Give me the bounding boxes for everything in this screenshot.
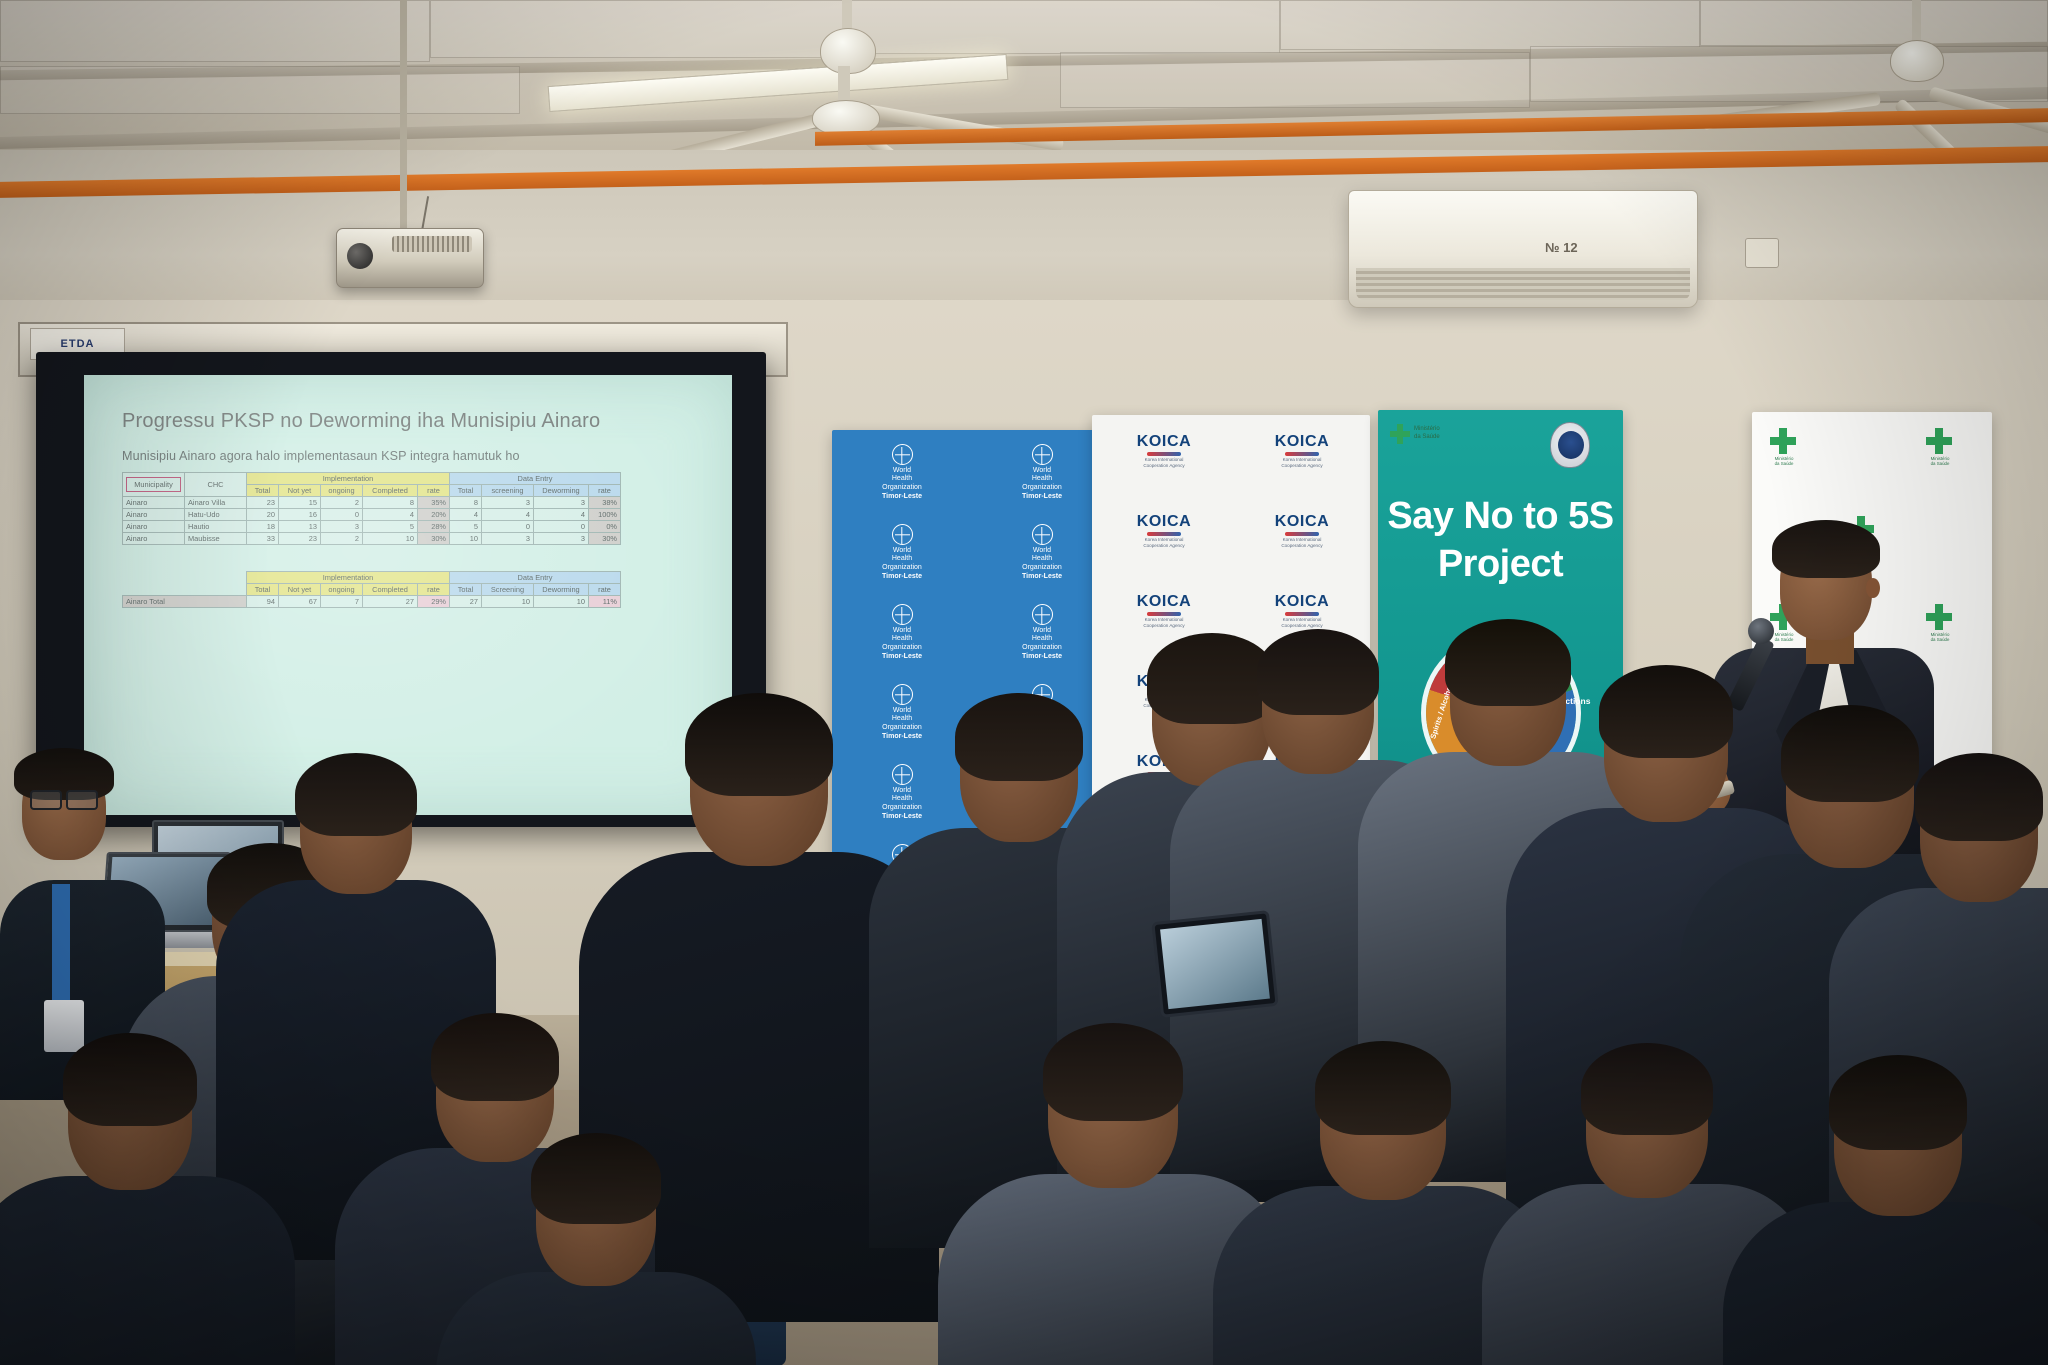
- cell-ongoing: 2: [321, 533, 363, 545]
- cell-impl-rate: 28%: [418, 521, 450, 533]
- col-impl-rate: rate: [418, 584, 450, 596]
- projector-mount-rod: [400, 0, 407, 228]
- slide-subtitle: Munisipiu Ainaro agora halo implementasa…: [122, 449, 732, 463]
- projector-lens-icon: [347, 243, 373, 269]
- cell-impl-total: 33: [247, 533, 279, 545]
- who-country: Timor-Leste: [990, 573, 1094, 581]
- cell-impl-total: 23: [247, 497, 279, 509]
- audience-torso: [0, 1176, 295, 1365]
- col-completed: Completed: [363, 584, 418, 596]
- col-deworming: Deworming: [534, 584, 589, 596]
- who-country: Timor-Leste: [850, 653, 954, 661]
- cell-completed: 5: [363, 521, 418, 533]
- koica-wordmark: KOICA: [1246, 593, 1358, 611]
- ministry-logo-block: Ministérioda Saúde: [1770, 428, 1810, 465]
- ceiling-panel: [1530, 46, 2048, 102]
- cell-de-total: 10: [450, 533, 482, 545]
- whiteboard-marker-tray: [700, 334, 772, 348]
- audience-hair: [295, 753, 417, 836]
- koica-logo-block: KOICA Korea InternationalCooperation Age…: [1246, 433, 1358, 468]
- cell-municipality: Ainaro: [123, 521, 185, 533]
- table-row: Ainaro Maubisse 33 23 2 10 30% 10 3 3 30…: [123, 533, 621, 545]
- who-emblem-icon: [892, 444, 913, 465]
- col-de-rate: rate: [589, 584, 621, 596]
- koica-logo-block: KOICA Korea InternationalCooperation Age…: [1108, 433, 1220, 468]
- audience-torso: [1723, 1202, 2048, 1365]
- cell-municipality: Ainaro: [123, 509, 185, 521]
- who-name: WorldHealthOrganization: [990, 627, 1094, 652]
- col-not-yet: Not yet: [279, 485, 321, 497]
- who-name: WorldHealthOrganization: [850, 787, 954, 812]
- koica-wordmark: KOICA: [1246, 433, 1358, 451]
- banner-title-line2: Project: [1378, 544, 1623, 584]
- slide-table-total: Implementation Data Entry Total Not yet …: [122, 571, 621, 608]
- ministry-label: Ministérioda Saúde: [1920, 632, 1960, 643]
- ministry-cross-icon: [1926, 604, 1952, 630]
- eyeglasses-icon: [66, 790, 98, 810]
- audience-hair: [431, 1013, 559, 1101]
- who-emblem-icon: [1032, 524, 1053, 545]
- cell-impl-rate: 29%: [418, 596, 450, 608]
- who-logo-block: WorldHealthOrganization Timor-Leste: [850, 764, 954, 821]
- koica-wordmark: KOICA: [1108, 433, 1220, 451]
- group-data-entry: Data Entry: [450, 572, 621, 584]
- audience-hair: [1257, 629, 1379, 715]
- slide-content: Progressu PKSP no Deworming iha Munisipi…: [84, 375, 732, 815]
- cell-de-rate: 100%: [589, 509, 621, 521]
- koica-swoosh-icon: [1147, 452, 1181, 456]
- koica-subtitle: Korea InternationalCooperation Agency: [1246, 537, 1358, 548]
- group-implementation: Implementation: [247, 572, 450, 584]
- cell-not-yet: 67: [279, 596, 321, 608]
- air-conditioner-grill: [1356, 268, 1690, 300]
- col-impl-rate: rate: [418, 485, 450, 497]
- group-data-entry: Data Entry: [450, 473, 621, 485]
- who-emblem-icon: [1032, 444, 1053, 465]
- cell-de-total: 5: [450, 521, 482, 533]
- table-group-header-row: Municipality CHC Implementation Data Ent…: [123, 473, 621, 485]
- total-group-header-row: Implementation Data Entry: [123, 572, 621, 584]
- cell-chc: Maubisse: [185, 533, 247, 545]
- who-emblem-icon: [892, 764, 913, 785]
- audience-hair: [685, 693, 833, 796]
- koica-subtitle: Korea InternationalCooperation Agency: [1246, 457, 1358, 468]
- cell-deworming: 4: [534, 509, 589, 521]
- ministry-label: Ministérioda Saúde: [1764, 456, 1804, 467]
- who-name: WorldHealthOrganization: [990, 547, 1094, 572]
- koica-wordmark: KOICA: [1246, 513, 1358, 531]
- koica-wordmark: KOICA: [1108, 593, 1220, 611]
- cell-impl-total: 18: [247, 521, 279, 533]
- table-row: Ainaro Hatu-Udo 20 16 0 4 20% 4 4 4 100%: [123, 509, 621, 521]
- koica-subtitle: Korea InternationalCooperation Agency: [1108, 617, 1220, 628]
- banner-title-line1: Say No to 5S: [1378, 496, 1623, 536]
- cell-ongoing: 7: [321, 596, 363, 608]
- audience-hair: [955, 693, 1083, 781]
- cell-screening: 3: [482, 497, 534, 509]
- ministry-cross-icon: [1926, 428, 1952, 454]
- col-de-total: Total: [450, 584, 482, 596]
- slide-title: Progressu PKSP no Deworming iha Munisipi…: [122, 409, 622, 433]
- wall-power-outlet[interactable]: [1745, 238, 1779, 268]
- ceiling-fan-motor: [1890, 40, 1944, 82]
- who-country: Timor-Leste: [850, 573, 954, 581]
- col-de-total: Total: [450, 485, 482, 497]
- who-name: WorldHealthOrganization: [850, 467, 954, 492]
- col-completed: Completed: [363, 485, 418, 497]
- cell-chc: Hatu-Udo: [185, 509, 247, 521]
- cell-chc: Hautio: [185, 521, 247, 533]
- ceiling-panel: [850, 0, 1280, 54]
- cell-deworming: 0: [534, 521, 589, 533]
- col-screening: Screening: [482, 584, 534, 596]
- who-logo-block: WorldHealthOrganization Timor-Leste: [850, 444, 954, 501]
- koica-subtitle: Korea InternationalCooperation Agency: [1108, 537, 1220, 548]
- presenter-hair: [1772, 520, 1880, 578]
- koica-swoosh-icon: [1147, 612, 1181, 616]
- cell-impl-total: 94: [247, 596, 279, 608]
- cell-impl-total: 20: [247, 509, 279, 521]
- audience-hair: [1781, 705, 1919, 802]
- ac-unit-label: № 12: [1545, 240, 1578, 255]
- ceiling-panel: [1700, 0, 2048, 46]
- audience-hair: [1445, 619, 1571, 706]
- cell-impl-rate: 35%: [418, 497, 450, 509]
- cell-de-rate: 38%: [589, 497, 621, 509]
- audience-hair: [1829, 1055, 1967, 1150]
- ceiling-panel: [0, 66, 520, 114]
- tablet-screen[interactable]: [1160, 919, 1270, 1009]
- cell-not-yet: 15: [279, 497, 321, 509]
- id-badge: [44, 1000, 84, 1052]
- who-emblem-icon: [892, 524, 913, 545]
- cell-municipality: Ainaro: [123, 497, 185, 509]
- cell-not-yet: 23: [279, 533, 321, 545]
- group-implementation: Implementation: [247, 473, 450, 485]
- who-emblem-icon: [1032, 604, 1053, 625]
- total-header-row: Total Not yet ongoing Completed rate Tot…: [123, 584, 621, 596]
- cell-de-total: 4: [450, 509, 482, 521]
- koica-swoosh-icon: [1285, 452, 1319, 456]
- audience-hair: [531, 1133, 661, 1224]
- who-name: WorldHealthOrganization: [850, 547, 954, 572]
- koica-subtitle: Korea InternationalCooperation Agency: [1246, 617, 1358, 628]
- cell-screening: 10: [482, 596, 534, 608]
- ceiling-panel: [0, 0, 430, 62]
- cell-impl-rate: 20%: [418, 509, 450, 521]
- col-screening: screening: [482, 485, 534, 497]
- who-name: WorldHealthOrganization: [850, 627, 954, 652]
- ministry-logo-block: Ministérioda Saúde: [1926, 604, 1966, 641]
- who-country: Timor-Leste: [850, 813, 954, 821]
- who-logo-block: WorldHealthOrganization Timor-Leste: [990, 604, 1094, 661]
- projection-screen: Progressu PKSP no Deworming iha Munisipi…: [84, 375, 732, 815]
- koica-subtitle: Korea InternationalCooperation Agency: [1108, 457, 1220, 468]
- koica-logo-block: KOICA Korea InternationalCooperation Age…: [1108, 593, 1220, 628]
- who-logo-block: WorldHealthOrganization Timor-Leste: [990, 444, 1094, 501]
- ceiling-panel: [1060, 52, 1530, 108]
- cell-completed: 10: [363, 533, 418, 545]
- staff-hair: [14, 748, 114, 800]
- cell-chc: Ainaro Villa: [185, 497, 247, 509]
- audience-hair: [1581, 1043, 1713, 1135]
- cell-de-total: 27: [450, 596, 482, 608]
- ministry-cross-icon: [1770, 428, 1796, 454]
- who-name: WorldHealthOrganization: [850, 707, 954, 732]
- who-country: Timor-Leste: [990, 493, 1094, 501]
- cell-impl-rate: 30%: [418, 533, 450, 545]
- koica-logo-block: KOICA Korea InternationalCooperation Age…: [1246, 593, 1358, 628]
- cell-deworming: 10: [534, 596, 589, 608]
- koica-swoosh-icon: [1147, 532, 1181, 536]
- col-impl-total: Total: [247, 584, 279, 596]
- col-not-yet: Not yet: [279, 584, 321, 596]
- ministry-logo-block: Ministérioda Saúde: [1926, 428, 1966, 465]
- who-emblem-icon: [892, 604, 913, 625]
- cell-not-yet: 13: [279, 521, 321, 533]
- cell-ongoing: 2: [321, 497, 363, 509]
- audience-hair: [63, 1033, 197, 1126]
- col-municipality: Municipality: [123, 473, 185, 497]
- government-seal-icon: [1550, 422, 1590, 468]
- cell-deworming: 3: [534, 533, 589, 545]
- table-row: Ainaro Ainaro Villa 23 15 2 8 35% 8 3 3 …: [123, 497, 621, 509]
- total-row: Ainaro Total 94 67 7 27 29% 27 10 10 11%: [123, 596, 621, 608]
- audience-hair: [1315, 1041, 1451, 1135]
- table-row: Ainaro Hautio 18 13 3 5 28% 5 0 0 0%: [123, 521, 621, 533]
- cell-not-yet: 16: [279, 509, 321, 521]
- cell-de-rate: 11%: [589, 596, 621, 608]
- ministry-cross-icon: [1390, 424, 1410, 444]
- who-emblem-icon: [892, 684, 913, 705]
- cell-screening: 3: [482, 533, 534, 545]
- col-ongoing: ongoing: [321, 584, 363, 596]
- col-de-rate: rate: [589, 485, 621, 497]
- col-chc: CHC: [185, 473, 247, 497]
- audience-hair: [1599, 665, 1733, 758]
- koica-logo-block: KOICA Korea InternationalCooperation Age…: [1108, 513, 1220, 548]
- cell-completed: 4: [363, 509, 418, 521]
- ministry-label: Ministérioda Saúde: [1920, 456, 1960, 467]
- cell-ongoing: 0: [321, 509, 363, 521]
- cell-screening: 0: [482, 521, 534, 533]
- koica-swoosh-icon: [1285, 532, 1319, 536]
- photo-scene: № 12 ETDA Progressu PKSP no Deworming ih…: [0, 0, 2048, 1365]
- cell-deworming: 3: [534, 497, 589, 509]
- who-country: Timor-Leste: [850, 733, 954, 741]
- audience-hair: [1043, 1023, 1183, 1121]
- who-logo-block: WorldHealthOrganization Timor-Leste: [850, 524, 954, 581]
- koica-wordmark: KOICA: [1108, 513, 1220, 531]
- cell-completed: 27: [363, 596, 418, 608]
- presenter-ear: [1866, 578, 1880, 598]
- cell-total-label: Ainaro Total: [123, 596, 247, 608]
- who-country: Timor-Leste: [990, 653, 1094, 661]
- slide-table-main: Municipality CHC Implementation Data Ent…: [122, 472, 621, 545]
- koica-logo-block: KOICA Korea InternationalCooperation Age…: [1246, 513, 1358, 548]
- ministry-label: Ministérioda Saúde: [1414, 426, 1440, 442]
- lanyard: [52, 884, 70, 1016]
- cell-screening: 4: [482, 509, 534, 521]
- who-logo-block: WorldHealthOrganization Timor-Leste: [990, 524, 1094, 581]
- who-country: Timor-Leste: [850, 493, 954, 501]
- cell-de-rate: 30%: [589, 533, 621, 545]
- col-ongoing: ongoing: [321, 485, 363, 497]
- cell-ongoing: 3: [321, 521, 363, 533]
- eyeglasses-icon: [30, 790, 62, 810]
- cell-completed: 8: [363, 497, 418, 509]
- audience-hair: [1915, 753, 2043, 841]
- who-logo-block: WorldHealthOrganization Timor-Leste: [850, 684, 954, 741]
- microphone-icon[interactable]: [1748, 618, 1774, 644]
- projector-vent: [392, 236, 472, 252]
- who-logo-block: WorldHealthOrganization Timor-Leste: [850, 604, 954, 661]
- cell-de-rate: 0%: [589, 521, 621, 533]
- cell-municipality: Ainaro: [123, 533, 185, 545]
- ceiling-panel: [1280, 0, 1700, 50]
- who-name: WorldHealthOrganization: [990, 467, 1094, 492]
- cell-de-total: 8: [450, 497, 482, 509]
- koica-swoosh-icon: [1285, 612, 1319, 616]
- col-deworming: Deworming: [534, 485, 589, 497]
- col-impl-total: Total: [247, 485, 279, 497]
- ceiling-panel: [430, 0, 850, 58]
